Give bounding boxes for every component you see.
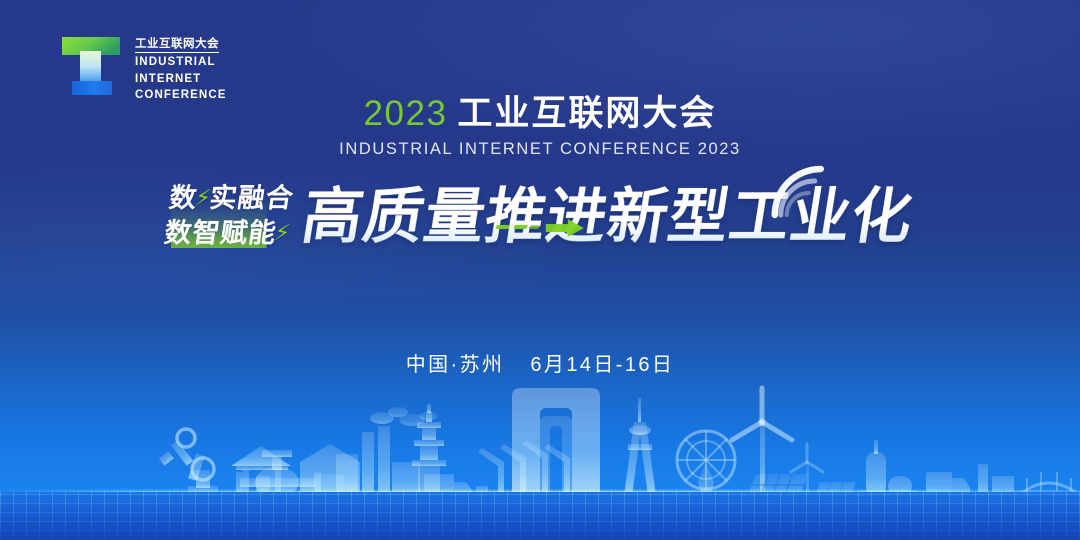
event-dateline: 中国·苏州6月14日-16日: [0, 348, 1080, 377]
truck-icon: [424, 474, 488, 501]
gate-of-the-orient-icon: [512, 388, 600, 496]
exhibition-hall-icon: [300, 444, 360, 496]
logistics-trucks-icon: [926, 464, 1014, 501]
horizon-glow-line: [0, 491, 1080, 496]
slogan-secondary-line1: 数⚡实融合: [167, 183, 296, 215]
event-subtitle-en: INDUSTRIAL INTERNET CONFERENCE 2023: [0, 140, 1080, 159]
slogan-secondary: 数⚡实融合 数智赋能⚡: [162, 183, 296, 250]
slogan-block: 数⚡实融合 数智赋能⚡ 高质量推进新型工业化: [0, 183, 1080, 288]
solar-panel-icon: [748, 474, 808, 496]
conference-banner: 工业互联网大会 INDUSTRIAL INTERNET CONFERENCE 2…: [0, 0, 1080, 540]
event-title-cn: 工业互联网大会: [457, 94, 716, 133]
storage-tanks-icon: [860, 440, 918, 496]
logo-cn-name: 工业互联网大会: [135, 37, 219, 53]
perspective-grid-floor: [0, 492, 1080, 540]
lightning-bolt-icon-2: ⚡: [273, 220, 293, 245]
bridge-icon: [1014, 472, 1080, 496]
logo-mark-icon: [58, 31, 124, 99]
solar-panel-icon-2: [815, 482, 856, 496]
ferris-wheel-icon: [677, 431, 735, 496]
pagoda-icon: [412, 404, 446, 496]
chinese-pavilion-icon: [231, 446, 291, 496]
skyline-landmarks: [231, 404, 446, 496]
wind-turbine-icon-2: [791, 444, 823, 496]
skyline-left-industry: [159, 407, 570, 501]
slogan-headline: 高质量推进新型工业化: [298, 184, 918, 250]
city-industry-skyline: [0, 370, 1080, 540]
event-year: 2023: [364, 94, 448, 133]
event-title: 2023工业互联网大会: [0, 92, 1080, 136]
pipe-valve-icon: [236, 450, 321, 497]
logo-en-line1: INDUSTRIAL: [135, 56, 227, 70]
logo-en-line2: INTERNET: [135, 73, 227, 87]
event-title-block: 2023工业互联网大会 INDUSTRIAL INTERNET CONFEREN…: [0, 92, 1080, 159]
port-cranes-icon: [478, 440, 570, 496]
wind-turbine-icon: [732, 388, 792, 496]
event-location: 中国·苏州: [406, 354, 505, 376]
tv-tower-icon: [624, 398, 656, 496]
slogan-line2-text: 数智赋能: [162, 218, 278, 248]
robot-arm-icon: [159, 429, 218, 496]
factory-smokestacks-icon: [336, 407, 437, 496]
skyline-right-energy: [624, 388, 1080, 501]
slogan-line1-part-b: 实融合: [208, 183, 296, 213]
slogan-secondary-line2: 数智赋能⚡: [162, 218, 291, 250]
event-dates: 6月14日-16日: [530, 354, 674, 376]
